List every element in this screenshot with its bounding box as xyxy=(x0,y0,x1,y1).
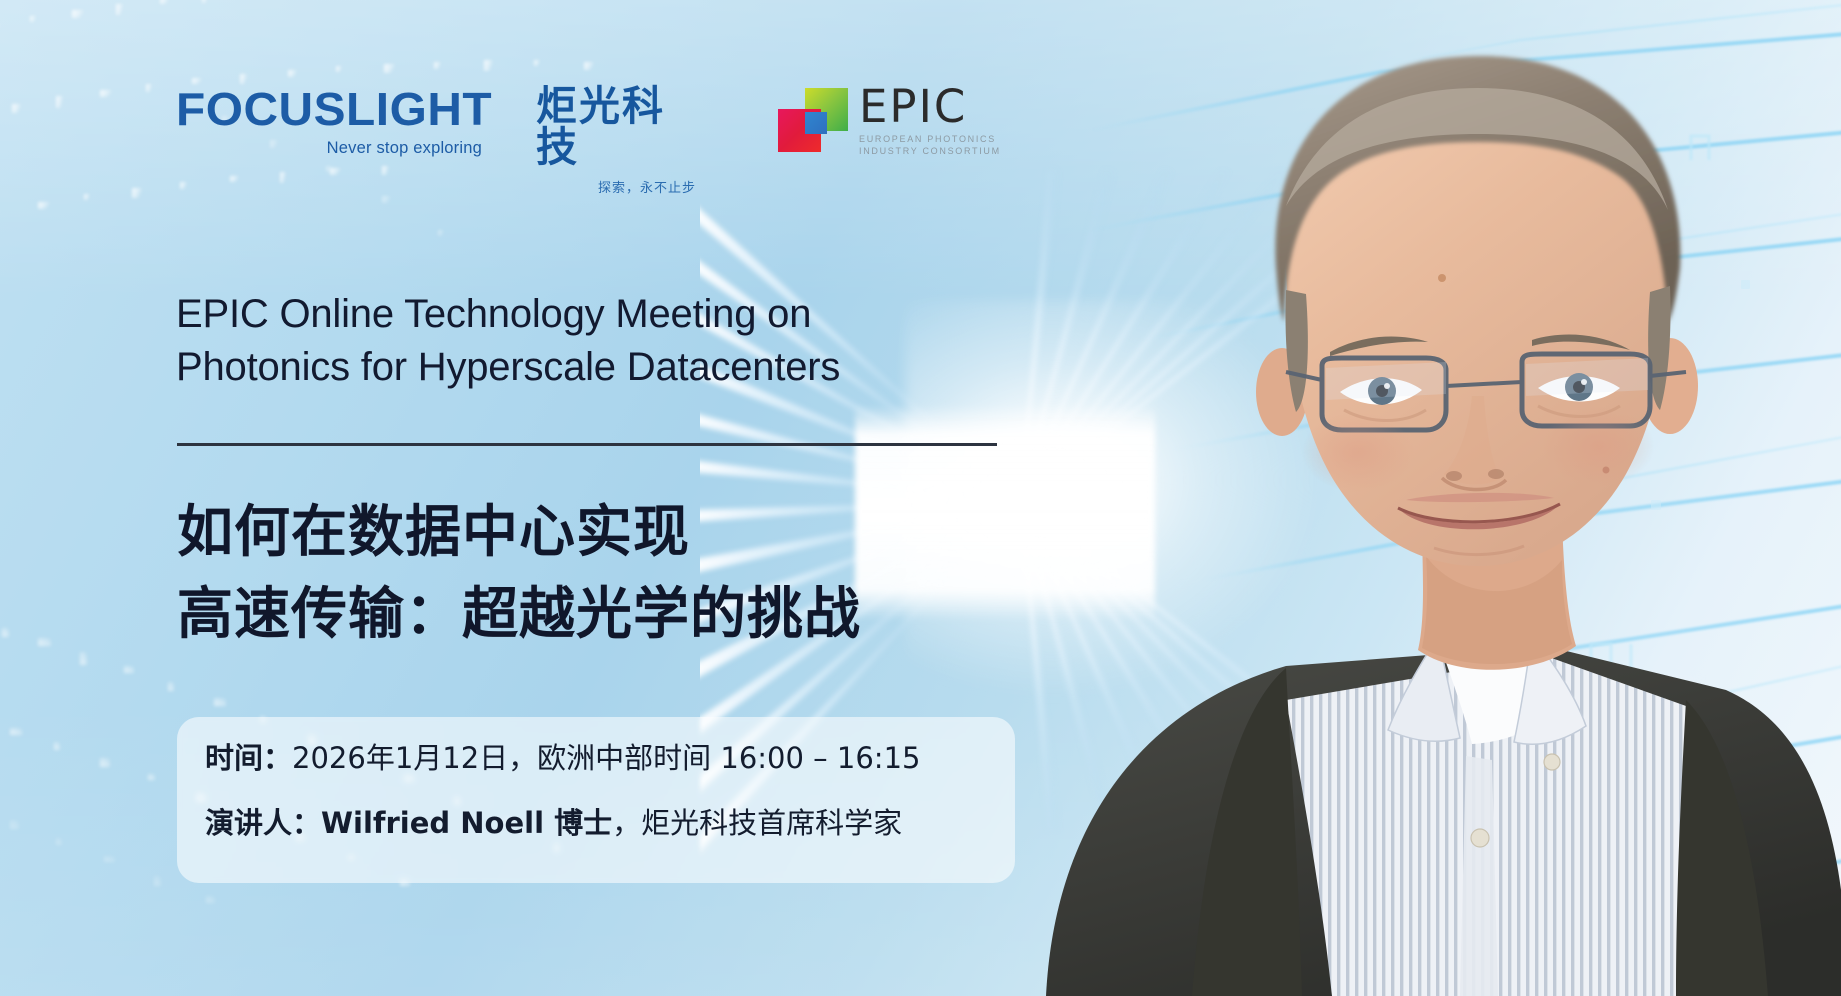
focuslight-wordmark: FOCUSLIGHT xyxy=(176,86,496,132)
sponsor-logo-row: FOCUSLIGHT Never stop exploring 炬光科技 探索，… xyxy=(176,86,1001,196)
event-speaker-name: Wilfried Noell 博士 xyxy=(321,806,612,840)
event-chinese-title-line1: 如何在数据中心实现 xyxy=(177,492,1077,574)
epic-subtitle-line2: INDUSTRY CONSORTIUM xyxy=(859,146,1001,158)
epic-text-block: EPIC EUROPEAN PHOTONICS INDUSTRY CONSORT… xyxy=(859,86,1001,158)
event-time-label: 时间： xyxy=(205,741,292,775)
event-details-box: 时间：2026年1月12日，欧洲中部时间 16:00 – 16:15 演讲人：W… xyxy=(177,717,1015,883)
event-chinese-title: 如何在数据中心实现 高速传输：超越光学的挑战 xyxy=(177,492,1077,656)
title-divider xyxy=(177,443,997,446)
event-english-title-line2: Photonics for Hyperscale Datacenters xyxy=(176,341,1016,394)
event-chinese-title-line2: 高速传输：超越光学的挑战 xyxy=(177,574,1077,656)
epic-subtitle: EUROPEAN PHOTONICS INDUSTRY CONSORTIUM xyxy=(859,134,1001,158)
epic-subtitle-line1: EUROPEAN PHOTONICS xyxy=(859,134,1001,146)
event-speaker-label: 演讲人： xyxy=(205,806,321,840)
epic-wordmark: EPIC xyxy=(859,86,1001,129)
event-time-line: 时间：2026年1月12日，欧洲中部时间 16:00 – 16:15 xyxy=(205,744,985,773)
speaker-head xyxy=(1256,56,1698,566)
webinar-banner: FOCUSLIGHT Never stop exploring 炬光科技 探索，… xyxy=(0,0,1841,996)
focuslight-logo: FOCUSLIGHT Never stop exploring xyxy=(176,86,484,158)
speaker-torso xyxy=(1046,634,1841,996)
event-english-title-line1: EPIC Online Technology Meeting on xyxy=(176,288,1016,341)
event-speaker-affiliation: ，炬光科技首席科学家 xyxy=(612,806,902,840)
event-time-value: 2026年1月12日，欧洲中部时间 16:00 – 16:15 xyxy=(292,741,920,775)
focuslight-cn-tagline: 探索，永不止步 xyxy=(536,177,696,196)
event-english-title: EPIC Online Technology Meeting on Photon… xyxy=(176,288,1016,394)
focuslight-cn-wordmark: 炬光科技 xyxy=(536,86,696,168)
speaker-portrait xyxy=(986,0,1841,996)
focuslight-tagline: Never stop exploring xyxy=(176,139,484,158)
event-speaker-line: 演讲人：Wilfried Noell 博士，炬光科技首席科学家 xyxy=(205,809,985,838)
epic-squares-icon xyxy=(778,88,848,150)
focuslight-cn-logo: 炬光科技 探索，永不止步 xyxy=(536,86,696,196)
epic-logo: EPIC EUROPEAN PHOTONICS INDUSTRY CONSORT… xyxy=(778,86,1001,158)
epic-blue-square-icon xyxy=(805,112,827,134)
